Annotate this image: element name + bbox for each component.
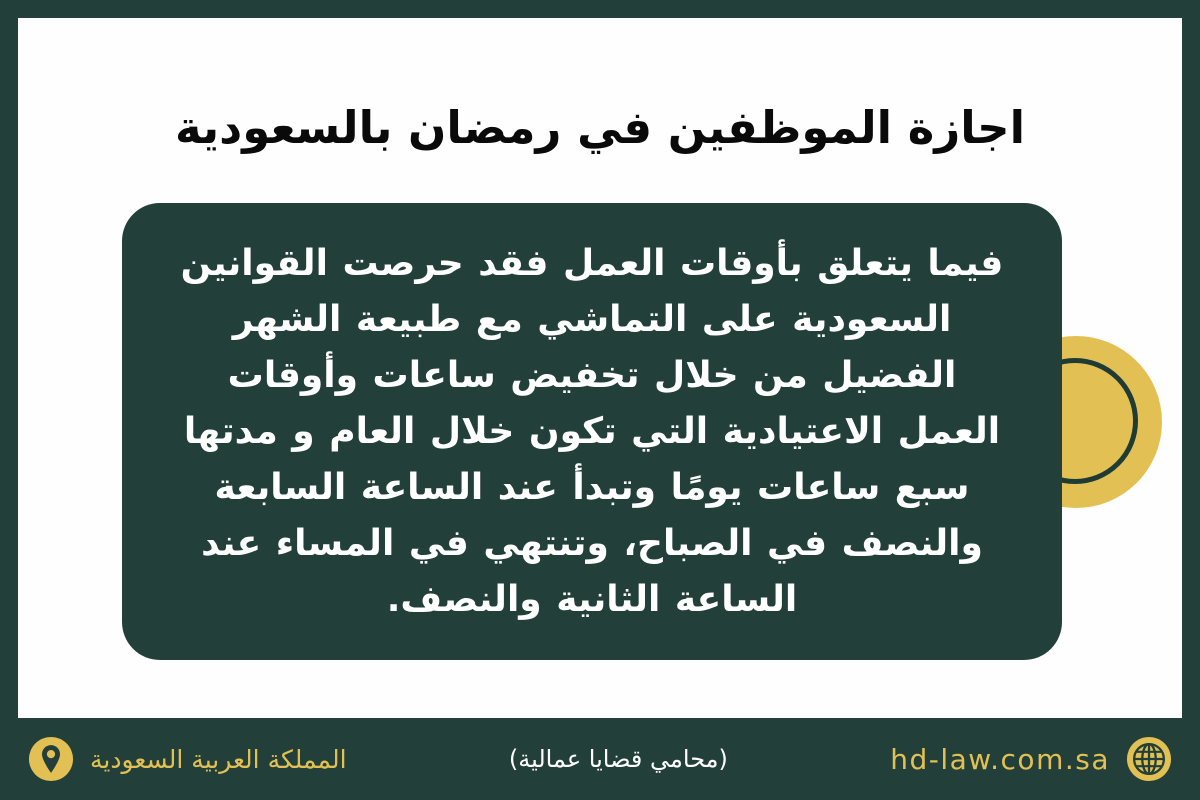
footer-tagline: (محامي قضايا عمالية) [509,745,728,773]
page-title: اجازة الموظفين في رمضان بالسعودية [18,100,1182,156]
footer-region-group: المملكة العربية السعودية [28,736,347,782]
globe-icon [1126,736,1172,782]
location-pin-icon [28,736,74,782]
poster-root: اجازة الموظفين في رمضان بالسعودية فيما ي… [0,0,1200,800]
content-card: فيما يتعلق بأوقات العمل فقد حرصت القواني… [122,203,1062,660]
footer-website-group[interactable]: hd-law.com.sa [890,736,1172,782]
poster-canvas: اجازة الموظفين في رمضان بالسعودية فيما ي… [18,18,1182,718]
website-url[interactable]: hd-law.com.sa [890,743,1110,776]
footer-bar: hd-law.com.sa (محامي قضايا عمالية) الممل… [0,718,1200,800]
region-label: المملكة العربية السعودية [90,745,347,774]
body-text: فيما يتعلق بأوقات العمل فقد حرصت القواني… [122,236,1062,628]
